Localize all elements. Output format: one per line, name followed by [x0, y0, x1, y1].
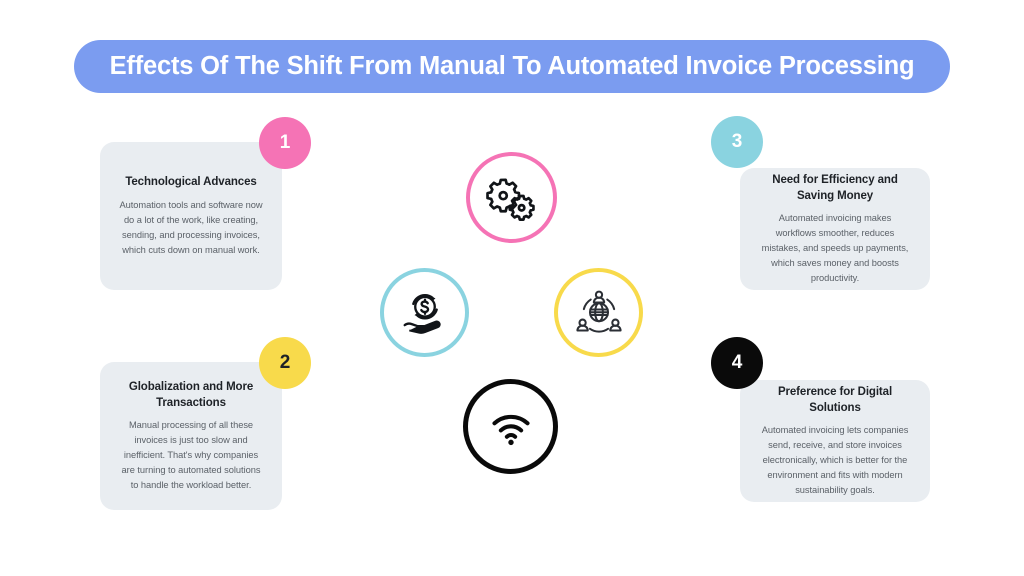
- wifi-icon: [487, 403, 535, 451]
- infographic-canvas: Effects Of The Shift From Manual To Auto…: [0, 0, 1024, 576]
- badge-number-2: 2: [259, 337, 311, 389]
- card-need-for-efficiency-and-saving-money: Need for Efficiency and Saving Money Aut…: [740, 168, 930, 290]
- title-banner: Effects Of The Shift From Manual To Auto…: [74, 40, 950, 93]
- card-technological-advances: Technological Advances Automation tools …: [100, 142, 282, 290]
- badge-label: 4: [732, 352, 743, 374]
- card-globalization-and-more-transactions: Globalization and More Transactions Manu…: [100, 362, 282, 510]
- global-network-icon: [574, 288, 624, 338]
- card-title: Technological Advances: [125, 174, 256, 190]
- card-body: Automated invoicing lets companies send,…: [758, 423, 912, 498]
- badge-number-4: 4: [711, 337, 763, 389]
- page-title: Effects Of The Shift From Manual To Auto…: [110, 52, 915, 81]
- money-in-hand-icon-ring: [380, 268, 469, 357]
- card-preference-for-digital-solutions: Preference for Digital Solutions Automat…: [740, 380, 930, 502]
- card-title: Globalization and More Transactions: [118, 379, 264, 412]
- badge-number-3: 3: [711, 116, 763, 168]
- gears-icon: [485, 171, 539, 225]
- gears-icon-ring: [466, 152, 557, 243]
- money-in-hand-icon: [400, 288, 450, 338]
- wifi-icon-ring: [463, 379, 558, 474]
- badge-label: 1: [280, 132, 291, 154]
- card-body: Automated invoicing makes workflows smoo…: [758, 211, 912, 286]
- badge-label: 2: [280, 352, 291, 374]
- badge-label: 3: [732, 131, 743, 153]
- card-title: Need for Efficiency and Saving Money: [758, 172, 912, 205]
- badge-number-1: 1: [259, 117, 311, 169]
- card-body: Manual processing of all these invoices …: [118, 418, 264, 493]
- global-network-icon-ring: [554, 268, 643, 357]
- card-body: Automation tools and software now do a l…: [118, 198, 264, 258]
- card-title: Preference for Digital Solutions: [758, 384, 912, 417]
